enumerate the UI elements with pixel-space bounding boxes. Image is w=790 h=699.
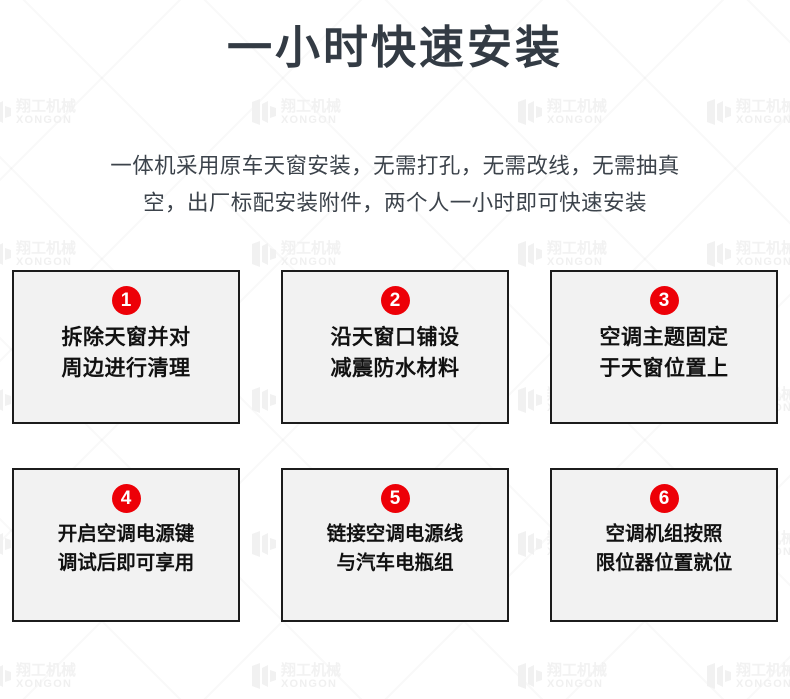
xongon-logo-icon: [0, 386, 12, 414]
watermark-text-en: XONGON: [281, 115, 341, 126]
page-title: 一小时快速安装: [0, 22, 790, 74]
watermark: 翔工机械XONGON: [517, 98, 607, 126]
step-number-badge: 1: [112, 286, 141, 315]
watermark-text-cn: 翔工机械: [281, 663, 341, 678]
xongon-logo-icon: [706, 240, 732, 268]
step-text-line-1: 开启空调电源键: [58, 520, 195, 549]
xongon-logo-icon: [517, 240, 543, 268]
installation-steps-grid: 1拆除天窗并对周边进行清理2沿天窗口铺设减震防水材料3空调主题固定于天窗位置上4…: [12, 270, 778, 622]
watermark-text-en: XONGON: [16, 679, 76, 690]
watermark-text-en: XONGON: [16, 115, 76, 126]
watermark: 翔工机械XONGON: [0, 662, 76, 690]
step-text: 链接空调电源线与汽车电瓶组: [327, 520, 464, 578]
xongon-logo-icon: [0, 530, 12, 558]
watermark-text-cn: 翔工机械: [16, 99, 76, 114]
xongon-logo-icon: [251, 662, 277, 690]
watermark: 翔工机械XONGON: [517, 240, 607, 268]
step-card: 3空调主题固定于天窗位置上: [550, 270, 778, 424]
watermark-text: 翔工机械XONGON: [281, 99, 341, 126]
watermark-text: 翔工机械XONGON: [547, 99, 607, 126]
step-number-badge: 3: [650, 286, 679, 315]
xongon-logo-icon: [517, 98, 543, 126]
watermark: 翔工机械XONGON: [0, 98, 76, 126]
watermark-text-cn: 翔工机械: [547, 99, 607, 114]
step-text-line-2: 调试后即可享用: [58, 549, 195, 578]
watermark-text: 翔工机械XONGON: [547, 663, 607, 690]
watermark-text: 翔工机械XONGON: [736, 99, 790, 126]
step-number-badge: 4: [112, 484, 141, 513]
step-number-badge: 2: [381, 286, 410, 315]
watermark-text-en: XONGON: [281, 257, 341, 268]
step-text-line-1: 空调机组按照: [596, 520, 733, 549]
watermark-text: 翔工机械XONGON: [281, 241, 341, 268]
watermark: 翔工机械XONGON: [706, 662, 790, 690]
watermark-text-cn: 翔工机械: [547, 241, 607, 256]
watermark-text-en: XONGON: [736, 115, 790, 126]
watermark-text: 翔工机械XONGON: [736, 663, 790, 690]
watermark: 翔工机械XONGON: [706, 98, 790, 126]
step-card: 5链接空调电源线与汽车电瓶组: [281, 468, 509, 622]
step-text-line-1: 沿天窗口铺设: [331, 322, 460, 353]
watermark-text-cn: 翔工机械: [281, 99, 341, 114]
xongon-logo-icon: [0, 240, 12, 268]
watermark-text: 翔工机械XONGON: [281, 663, 341, 690]
watermark: 翔工机械XONGON: [251, 662, 341, 690]
xongon-logo-icon: [706, 662, 732, 690]
subtitle-block: 一体机采用原车天窗安装，无需打孔，无需改线，无需抽真 空，出厂标配安装附件，两个…: [45, 148, 745, 222]
step-card: 2沿天窗口铺设减震防水材料: [281, 270, 509, 424]
xongon-logo-icon: [251, 240, 277, 268]
step-text: 沿天窗口铺设减震防水材料: [331, 322, 460, 384]
step-text-line-1: 链接空调电源线: [327, 520, 464, 549]
subtitle-line-2: 空，出厂标配安装附件，两个人一小时即可快速安装: [45, 185, 745, 222]
watermark-text: 翔工机械XONGON: [16, 663, 76, 690]
subtitle-line-1: 一体机采用原车天窗安装，无需打孔，无需改线，无需抽真: [45, 148, 745, 185]
watermark-text-cn: 翔工机械: [736, 241, 790, 256]
xongon-logo-icon: [0, 98, 12, 126]
watermark: 翔工机械XONGON: [251, 240, 341, 268]
xongon-logo-icon: [0, 662, 12, 690]
watermark-text-cn: 翔工机械: [16, 241, 76, 256]
watermark-text: 翔工机械XONGON: [736, 241, 790, 268]
watermark-text-en: XONGON: [547, 679, 607, 690]
watermark: 翔工机械XONGON: [706, 240, 790, 268]
step-card: 4开启空调电源键调试后即可享用: [12, 468, 240, 622]
watermark-text-cn: 翔工机械: [736, 663, 790, 678]
watermark: 翔工机械XONGON: [0, 240, 76, 268]
watermark-text-cn: 翔工机械: [281, 241, 341, 256]
xongon-logo-icon: [517, 662, 543, 690]
watermark-text-cn: 翔工机械: [736, 99, 790, 114]
watermark-text: 翔工机械XONGON: [16, 99, 76, 126]
step-number-badge: 6: [650, 484, 679, 513]
step-text: 开启空调电源键调试后即可享用: [58, 520, 195, 578]
watermark-text: 翔工机械XONGON: [16, 241, 76, 268]
watermark: 翔工机械XONGON: [517, 662, 607, 690]
watermark: 翔工机械XONGON: [251, 98, 341, 126]
watermark-text-en: XONGON: [547, 257, 607, 268]
step-text: 空调机组按照限位器位置就位: [596, 520, 733, 578]
watermark-text-en: XONGON: [547, 115, 607, 126]
watermark-text-cn: 翔工机械: [16, 663, 76, 678]
step-text-line-1: 空调主题固定: [600, 322, 729, 353]
step-text-line-2: 周边进行清理: [62, 353, 191, 384]
step-number-badge: 5: [381, 484, 410, 513]
watermark-text-cn: 翔工机械: [547, 663, 607, 678]
watermark-text-en: XONGON: [16, 257, 76, 268]
step-text: 拆除天窗并对周边进行清理: [62, 322, 191, 384]
step-text-line-2: 与汽车电瓶组: [327, 549, 464, 578]
step-text-line-2: 于天窗位置上: [600, 353, 729, 384]
watermark-text-en: XONGON: [736, 257, 790, 268]
step-text-line-1: 拆除天窗并对: [62, 322, 191, 353]
xongon-logo-icon: [251, 98, 277, 126]
step-text-line-2: 限位器位置就位: [596, 549, 733, 578]
promo-page: 翔工机械XONGON翔工机械XONGON翔工机械XONGON翔工机械XONGON…: [0, 0, 790, 699]
watermark-text: 翔工机械XONGON: [547, 241, 607, 268]
watermark-text-en: XONGON: [736, 679, 790, 690]
watermark-text-en: XONGON: [281, 679, 341, 690]
step-text-line-2: 减震防水材料: [331, 353, 460, 384]
xongon-logo-icon: [706, 98, 732, 126]
step-card: 6空调机组按照限位器位置就位: [550, 468, 778, 622]
step-card: 1拆除天窗并对周边进行清理: [12, 270, 240, 424]
step-text: 空调主题固定于天窗位置上: [600, 322, 729, 384]
